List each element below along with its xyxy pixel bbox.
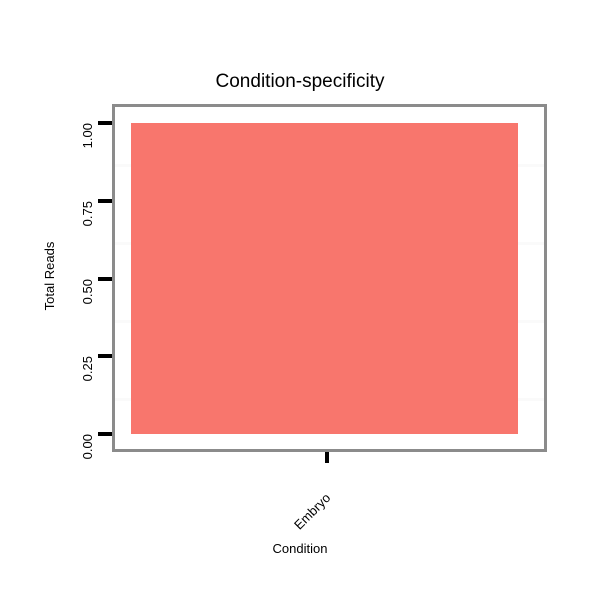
bar-embryo[interactable] xyxy=(131,123,518,434)
y-axis-tick-label: 0.00 xyxy=(81,434,95,504)
y-axis-tick-label: 0.75 xyxy=(81,201,95,271)
chart-title: Condition-specificity xyxy=(0,70,600,94)
plot-panel-inner xyxy=(115,107,544,449)
x-axis-tick-mark xyxy=(325,452,329,463)
y-axis-tick-label: 1.00 xyxy=(81,123,95,193)
chart-root: Condition-specificity Total Reads 1.00 0… xyxy=(0,0,600,600)
x-axis-title: Condition xyxy=(0,541,600,557)
y-axis-tick-label: 0.25 xyxy=(81,356,95,426)
y-axis-title: Total Reads xyxy=(42,206,58,346)
y-axis-tick-label: 0.50 xyxy=(81,279,95,349)
plot-panel xyxy=(112,104,547,452)
